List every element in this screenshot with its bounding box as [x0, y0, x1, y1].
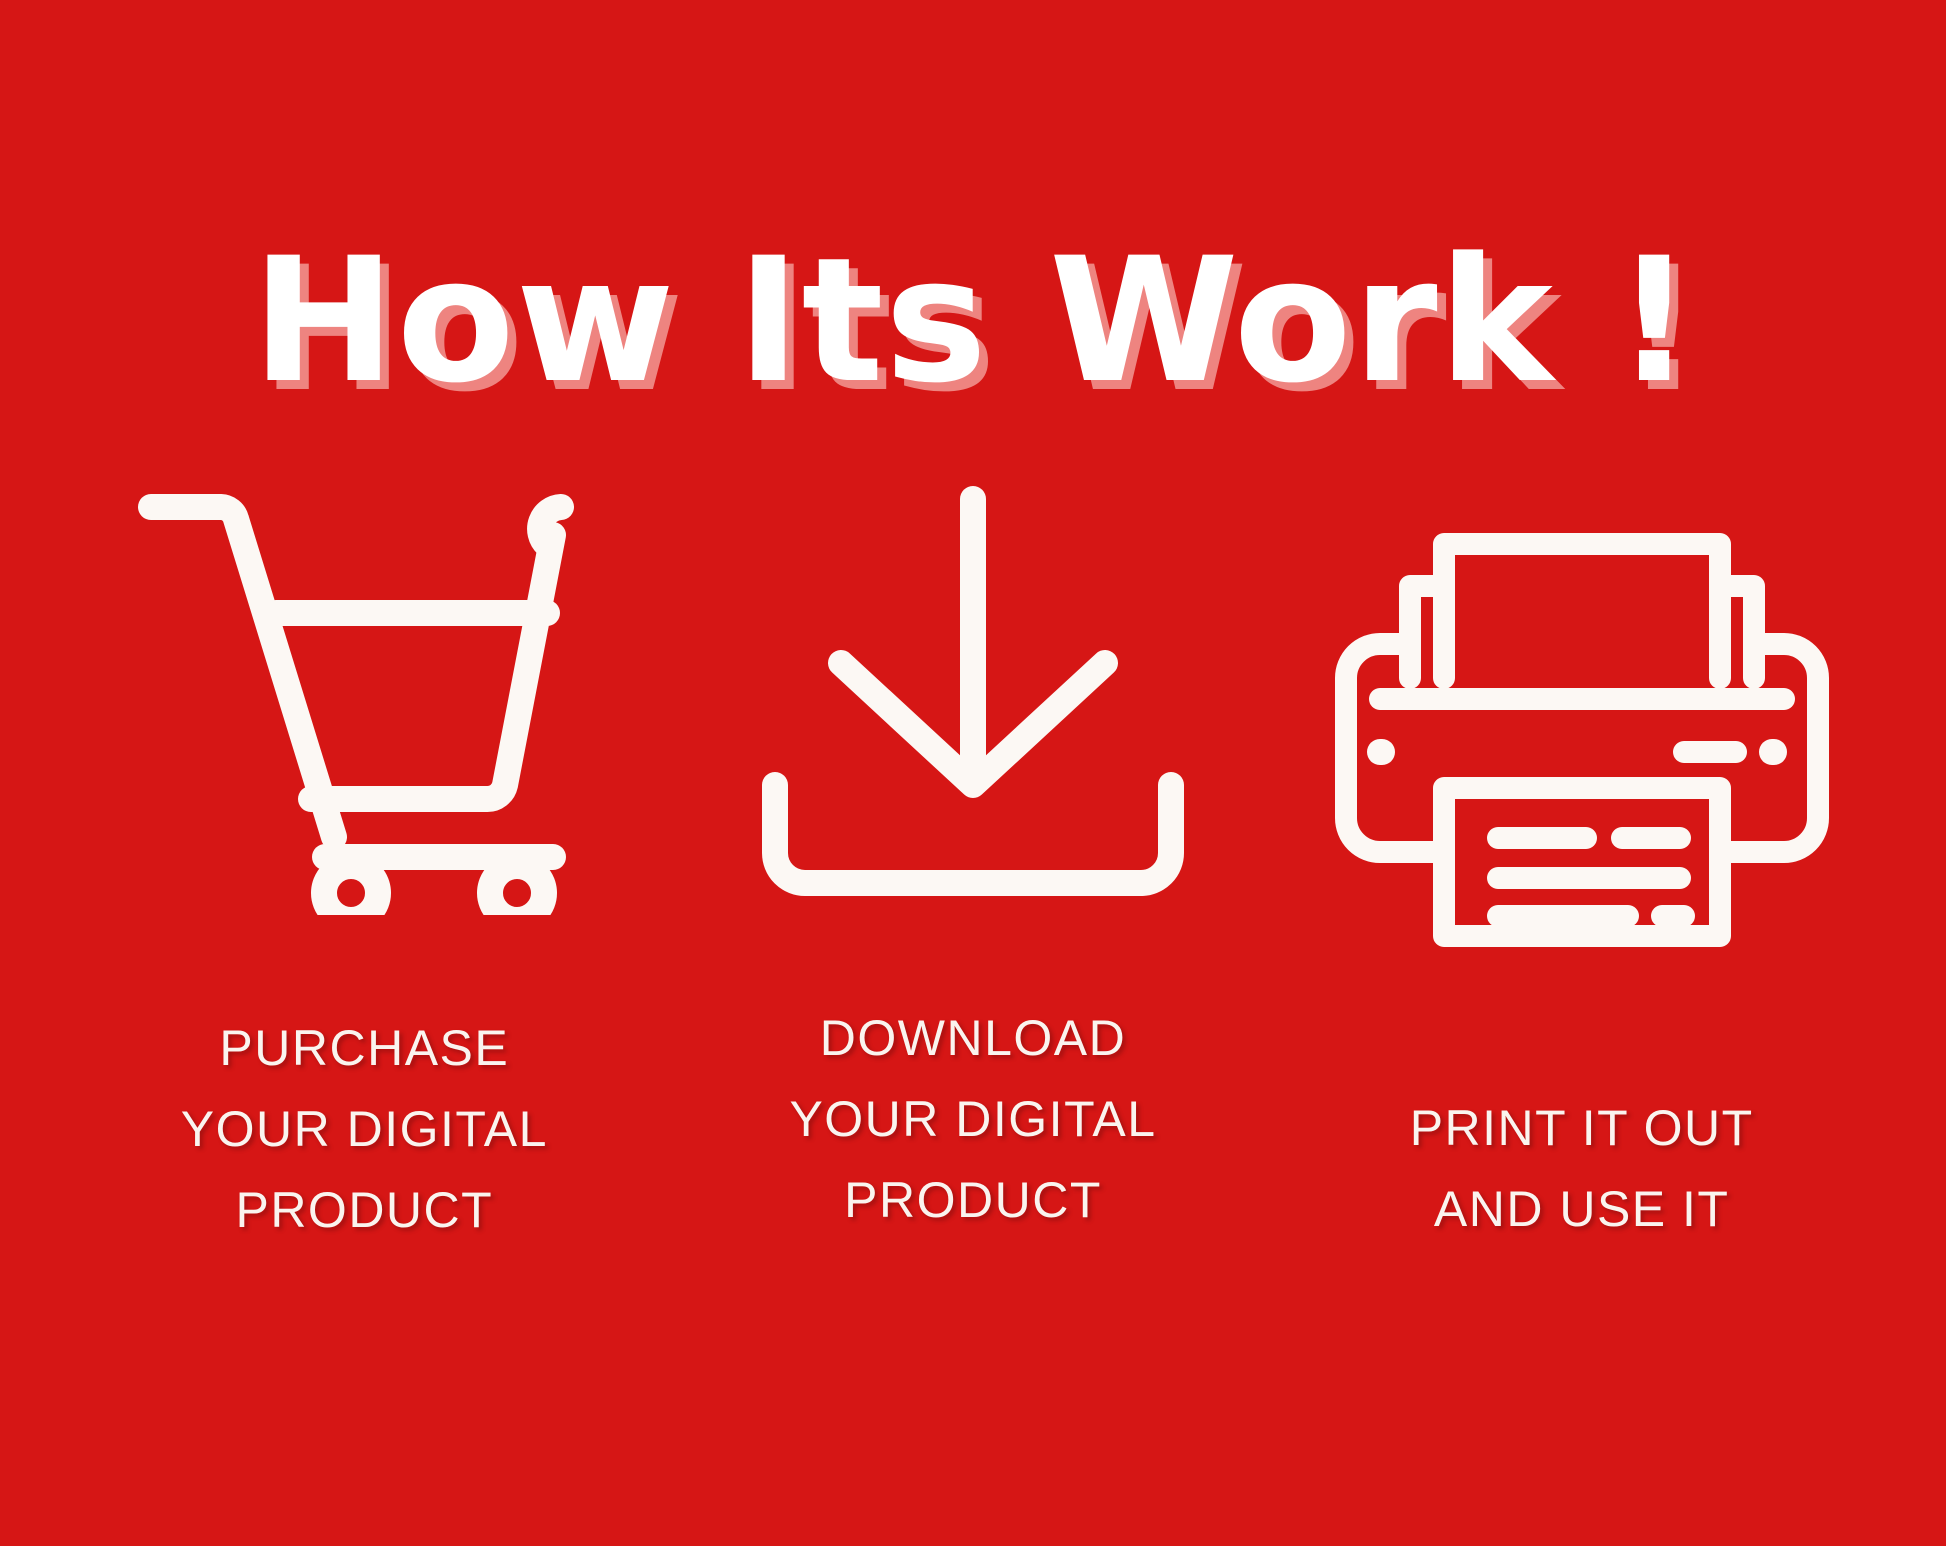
step-print-icon-box: [1332, 508, 1832, 968]
step-download-caption: DOWNLOAD YOUR DIGITAL PRODUCT: [789, 998, 1156, 1241]
step-purchase: PURCHASE YOUR DIGITAL PRODUCT: [60, 470, 669, 1251]
steps-row: PURCHASE YOUR DIGITAL PRODUCT DOWNLOAD Y: [0, 470, 1946, 1420]
caption-line: AND USE IT: [1410, 1169, 1754, 1250]
title-container: How Its Work !: [0, 120, 1946, 522]
shopping-cart-icon: [129, 485, 599, 915]
step-purchase-caption: PURCHASE YOUR DIGITAL PRODUCT: [181, 1008, 548, 1251]
download-tray-icon: [753, 485, 1193, 915]
step-download: DOWNLOAD YOUR DIGITAL PRODUCT: [669, 470, 1278, 1241]
step-print: PRINT IT OUT AND USE IT: [1277, 470, 1886, 1250]
caption-line: PURCHASE: [181, 1008, 548, 1089]
caption-line: DOWNLOAD: [789, 998, 1156, 1079]
step-purchase-icon-box: [129, 470, 599, 930]
caption-line: PRINT IT OUT: [1410, 1088, 1754, 1169]
caption-line: PRODUCT: [789, 1160, 1156, 1241]
page-title: How Its Work !: [252, 235, 1695, 407]
caption-line: YOUR DIGITAL: [181, 1089, 548, 1170]
caption-line: YOUR DIGITAL: [789, 1079, 1156, 1160]
printer-icon: [1332, 526, 1832, 951]
caption-line: PRODUCT: [181, 1170, 548, 1251]
step-print-caption: PRINT IT OUT AND USE IT: [1410, 1088, 1754, 1250]
how-it-works-poster: How Its Work !: [0, 0, 1946, 1546]
step-download-icon-box: [753, 470, 1193, 930]
